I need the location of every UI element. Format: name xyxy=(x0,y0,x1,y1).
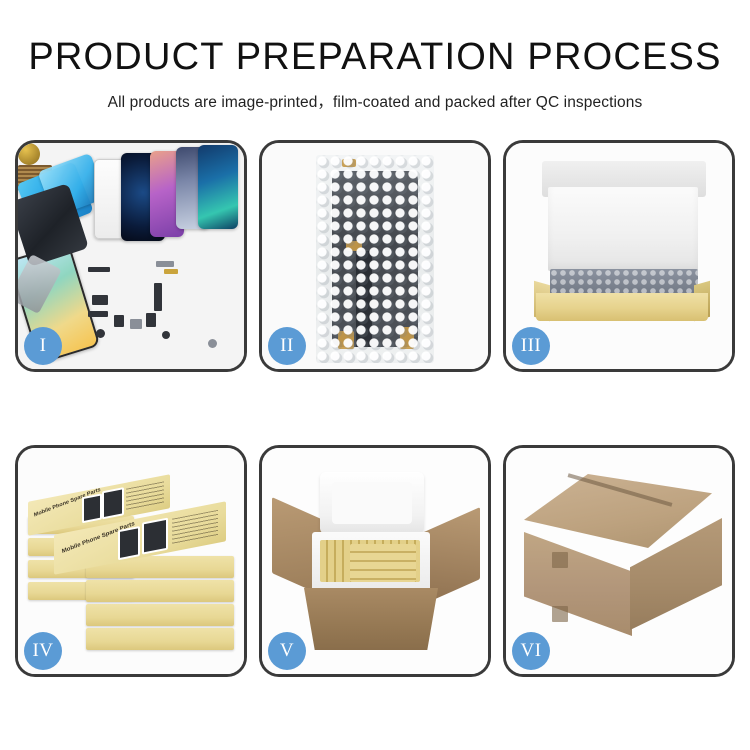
panel-badge-6: VI xyxy=(512,632,550,670)
screw-icon xyxy=(162,331,170,339)
small-part-icon xyxy=(146,313,156,327)
process-panel-grid: I II xyxy=(15,140,735,677)
carton-top-face-icon xyxy=(524,474,712,548)
screw-icon xyxy=(208,339,217,348)
box-stack: Mobile Phone Spare Parts Mobile Phone Sp… xyxy=(26,470,242,660)
bubble-wrap-texture-icon xyxy=(316,155,434,363)
process-panel-4[interactable]: Mobile Phone Spare Parts Mobile Phone Sp… xyxy=(15,445,247,677)
carton-front-face-icon xyxy=(524,532,632,636)
foam-box-icon xyxy=(312,532,430,594)
carton-tape-icon xyxy=(552,606,568,622)
panel-badge-5: V xyxy=(268,632,306,670)
product-window-icon xyxy=(118,526,140,560)
spec-lines-icon xyxy=(172,510,218,545)
stacked-box xyxy=(86,604,234,626)
carton-tape-icon xyxy=(552,552,568,568)
small-part-icon xyxy=(88,311,108,317)
speaker-part-icon xyxy=(18,143,40,165)
phone-screen-teal-icon xyxy=(198,145,238,229)
panel-badge-2: II xyxy=(268,327,306,365)
screw-icon xyxy=(96,329,105,338)
small-part-icon xyxy=(114,315,124,327)
process-panel-5[interactable]: V xyxy=(259,445,491,677)
small-part-icon xyxy=(164,269,178,274)
flex-cable-icon xyxy=(154,283,162,311)
carton-front-panel-icon xyxy=(304,588,438,650)
process-panel-2[interactable]: II xyxy=(259,140,491,372)
foam-lid-icon xyxy=(320,472,424,534)
small-part-icon xyxy=(92,295,108,305)
page-subtitle: All products are image-printed，film-coat… xyxy=(0,90,750,112)
small-part-icon xyxy=(130,319,142,329)
panel-badge-3: III xyxy=(512,327,550,365)
foam-sheet-icon xyxy=(548,187,698,271)
process-panel-6[interactable]: VI xyxy=(503,445,735,677)
page-header: PRODUCT PREPARATION PROCESS All products… xyxy=(0,0,750,112)
process-panel-1[interactable]: I xyxy=(15,140,247,372)
stacked-box xyxy=(86,580,234,602)
small-part-icon xyxy=(88,267,110,272)
product-window-icon xyxy=(142,518,168,555)
page-title: PRODUCT PREPARATION PROCESS xyxy=(0,38,750,78)
wrapped-package xyxy=(316,155,434,363)
yellow-boxes-contents-icon xyxy=(350,544,416,582)
foam-lid-inner xyxy=(332,482,412,524)
box-front-panel-icon xyxy=(536,293,708,321)
panel-badge-4: IV xyxy=(24,632,62,670)
product-window-icon xyxy=(82,493,102,523)
small-part-icon xyxy=(156,261,174,267)
panel-badge-1: I xyxy=(24,327,62,365)
stacked-box xyxy=(86,628,234,650)
spec-lines-icon xyxy=(126,481,164,510)
process-panel-3[interactable]: III xyxy=(503,140,735,372)
product-window-icon xyxy=(102,487,124,519)
